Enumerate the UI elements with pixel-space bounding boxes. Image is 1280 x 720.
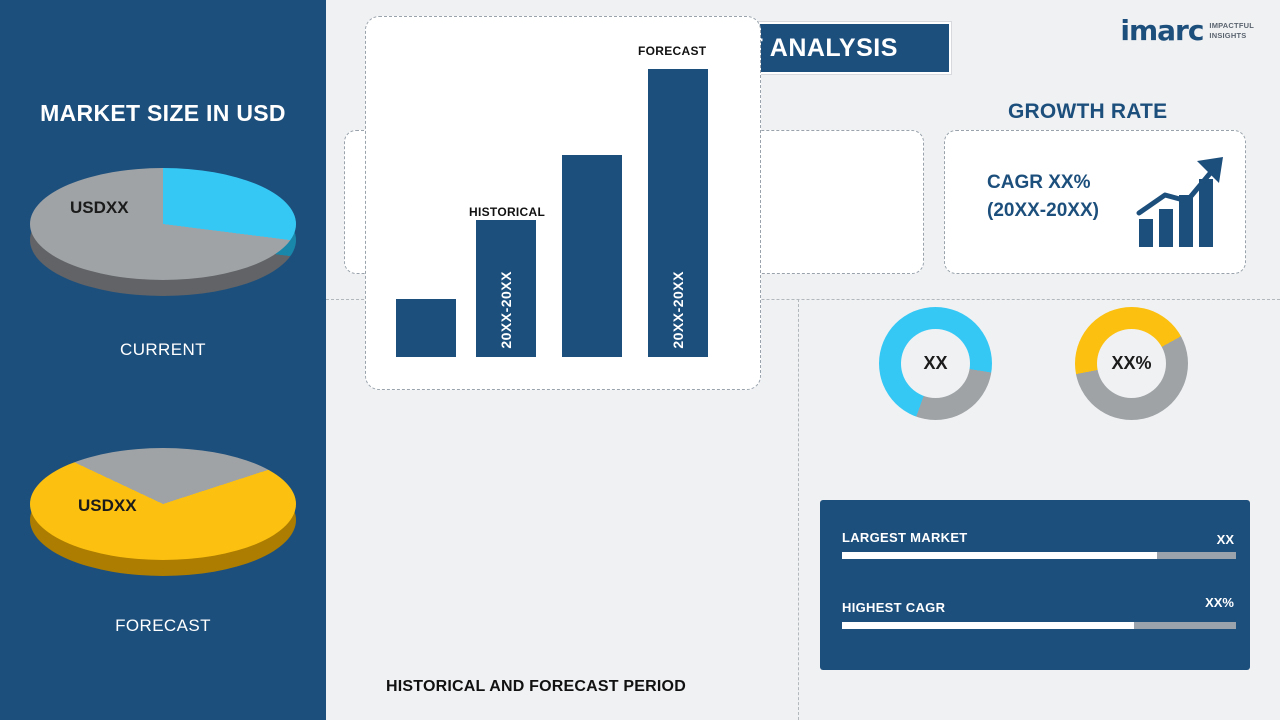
- left-panel: MARKET SIZE IN USD USDXX CURRENT USDXX F…: [0, 0, 326, 720]
- vertical-divider: [798, 299, 799, 720]
- logo-tagline-line2: INSIGHTS: [1209, 31, 1246, 40]
- imarc-logo: imarc IMPACTFUL INSIGHTS: [1120, 14, 1254, 47]
- forecast-pie-group: USDXX FORECAST: [0, 448, 326, 636]
- right-area: SEGMENT ANALYSIS imarc IMPACTFUL INSIGHT…: [326, 0, 1280, 720]
- growth-arrow-bars-icon: [1135, 151, 1235, 251]
- stat-track-largest-market: [842, 552, 1236, 559]
- growth-rate-title: GROWTH RATE: [1008, 100, 1167, 124]
- current-pie-chart: USDXX: [30, 168, 296, 296]
- bar-chart-caption: HISTORICAL AND FORECAST PERIOD: [386, 678, 686, 696]
- current-pie-group: USDXX CURRENT: [0, 168, 326, 360]
- stat-track-highest-cagr: [842, 622, 1236, 629]
- stat-value-largest-market: XX: [1217, 532, 1234, 547]
- current-pie-value: USDXX: [70, 198, 129, 218]
- forecast-pie-value: USDXX: [78, 496, 137, 516]
- forecast-pie-top: [30, 448, 296, 560]
- cagr-line1: CAGR XX%: [987, 172, 1090, 193]
- forecast-pie-chart: USDXX: [30, 448, 296, 576]
- logo-tagline: IMPACTFUL INSIGHTS: [1209, 21, 1254, 40]
- donut-left-value: XX: [901, 329, 970, 398]
- donut-right: XX%: [1075, 307, 1188, 420]
- stat-fill-highest-cagr: [842, 622, 1134, 629]
- stat-fill-largest-market: [842, 552, 1157, 559]
- logo-tagline-line1: IMPACTFUL: [1209, 21, 1254, 30]
- stats-card-main: LARGEST MARKET XX HIGHEST CAGR XX%: [820, 500, 1250, 670]
- bar-2-label: 20XX-20XX: [498, 271, 514, 349]
- bar-4-label: 20XX-20XX: [670, 271, 686, 349]
- historical-label: HISTORICAL: [469, 205, 545, 219]
- stat-value-highest-cagr: XX%: [1205, 595, 1234, 610]
- growth-rate-box: CAGR XX% (20XX-20XX): [944, 130, 1246, 274]
- logo-wordmark: imarc: [1120, 14, 1203, 47]
- current-pie-top: [30, 168, 296, 280]
- cagr-line2: (20XX-20XX): [987, 200, 1099, 221]
- stat-label-largest-market: LARGEST MARKET: [842, 530, 968, 545]
- bar-3: [562, 155, 622, 357]
- bar-chart-panel: 20XX-20XX HISTORICAL 20XX-20XX FORECAST: [365, 16, 761, 390]
- donut-right-value: XX%: [1097, 329, 1166, 398]
- bar-4: 20XX-20XX: [648, 69, 708, 357]
- donut-left: XX: [879, 307, 992, 420]
- current-pie-caption: CURRENT: [0, 340, 326, 360]
- cagr-text: CAGR XX% (20XX-20XX): [987, 169, 1099, 224]
- bar-2: 20XX-20XX: [476, 220, 536, 357]
- infographic-root: MARKET SIZE IN USD USDXX CURRENT USDXX F…: [0, 0, 1280, 720]
- market-size-title: MARKET SIZE IN USD: [0, 100, 326, 127]
- forecast-label: FORECAST: [638, 44, 706, 58]
- bar-1: [396, 299, 456, 357]
- stat-label-highest-cagr: HIGHEST CAGR: [842, 600, 945, 615]
- forecast-pie-caption: FORECAST: [0, 616, 326, 636]
